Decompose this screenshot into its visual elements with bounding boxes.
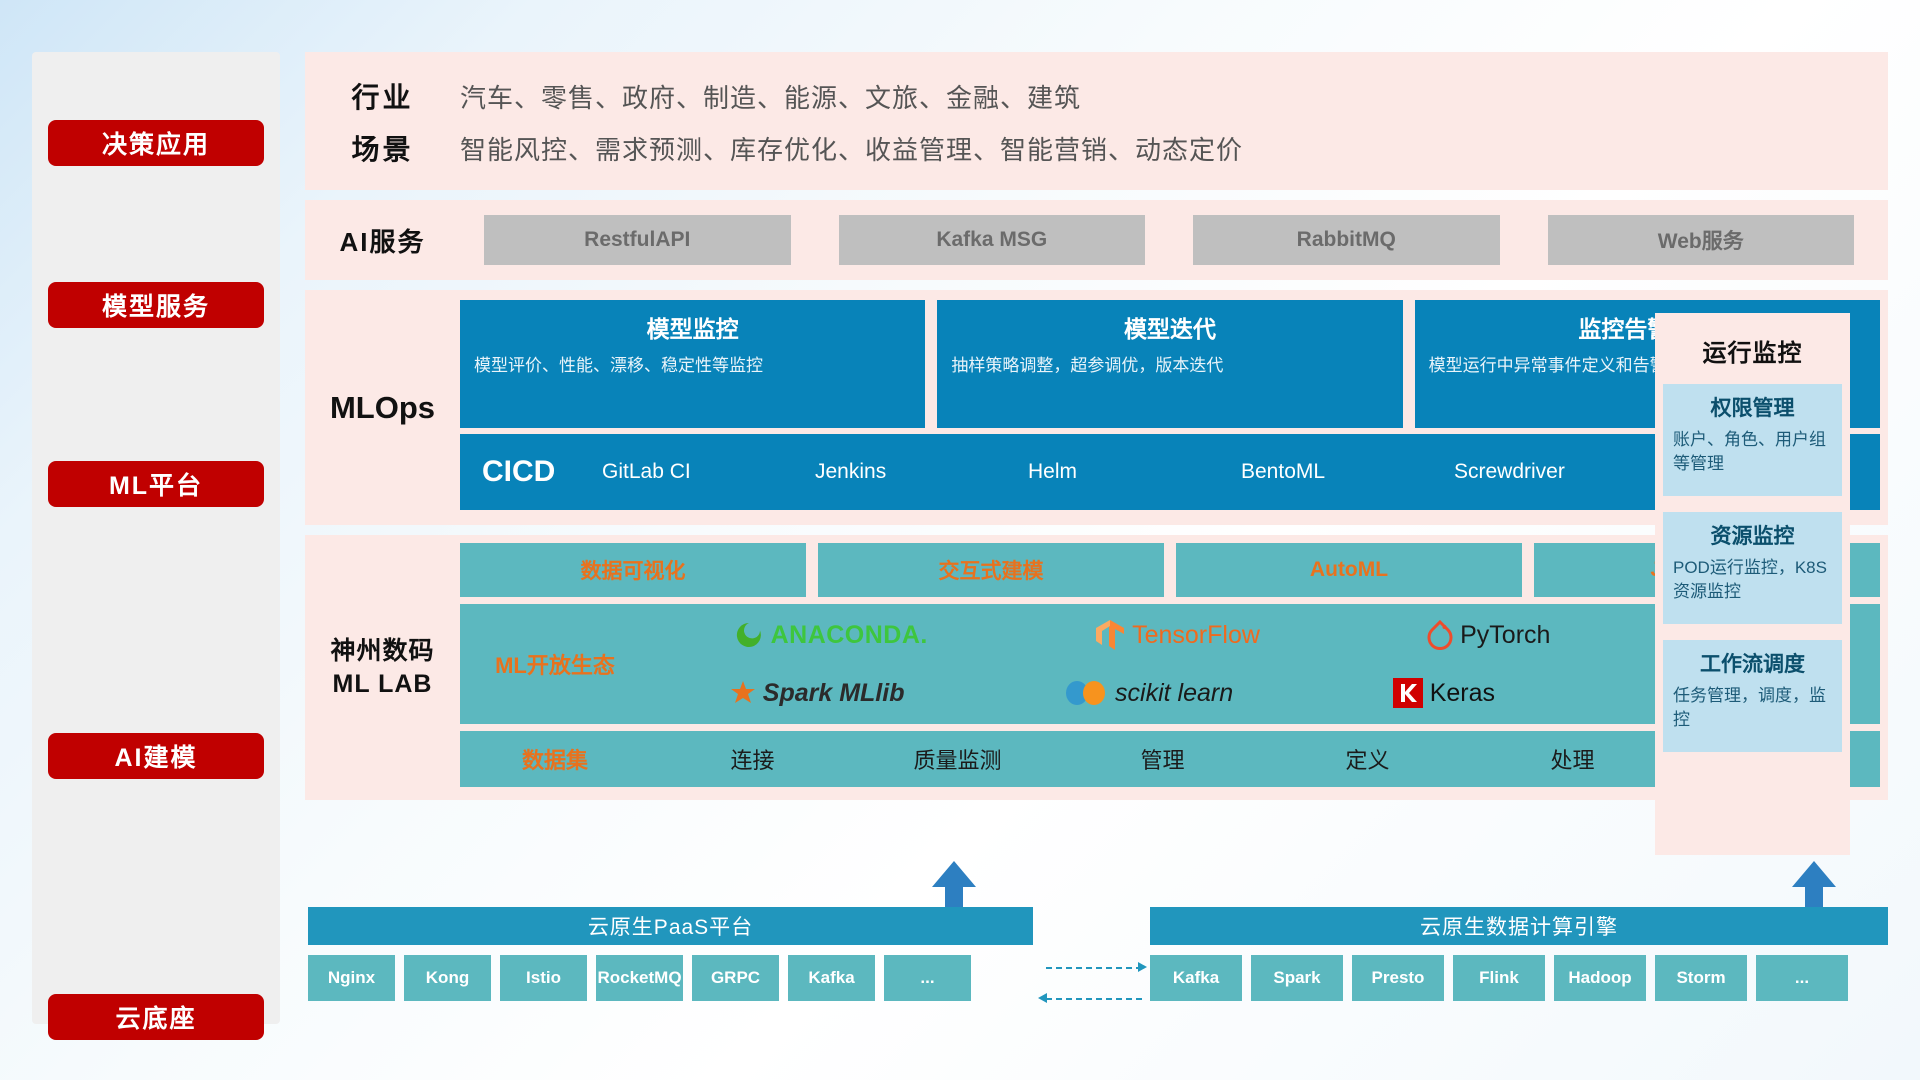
runtime-monitor-title: 运行监控 [1663, 321, 1842, 384]
layer-label-cloud-base[interactable]: 云底座 [48, 994, 264, 1040]
link-dashed-line-bottom [1046, 998, 1142, 1000]
logo-spark-mllib[interactable]: Spark MLlib [730, 679, 905, 708]
lab-tool-data-visualization[interactable]: 数据可视化 [460, 543, 806, 597]
dataset-step-define[interactable]: 定义 [1265, 743, 1470, 775]
card-title: 权限管理 [1673, 392, 1832, 422]
cicd-label: CICD [482, 455, 602, 489]
engine-chip-presto[interactable]: Presto [1352, 955, 1444, 1001]
dataset-step-quality-monitor[interactable]: 质量监测 [855, 743, 1060, 775]
card-desc: 账户、角色、用户组等管理 [1673, 428, 1832, 476]
monitor-card-resource[interactable]: 资源监控 POD运行监控，K8S资源监控 [1663, 512, 1842, 624]
cicd-tool-gitlab-ci[interactable]: GitLab CI [602, 461, 815, 483]
cicd-tool-screwdriver[interactable]: Screwdriver [1454, 461, 1667, 483]
ml-lab-label-line2: ML LAB [333, 668, 433, 701]
dataset-step-process[interactable]: 处理 [1470, 743, 1675, 775]
keras-icon [1393, 678, 1423, 708]
ml-ecosystem-label: ML开放生态 [460, 648, 650, 680]
logo-text: ANACONDA. [771, 621, 928, 650]
engine-arrow-stem [1805, 885, 1823, 907]
logo-anaconda[interactable]: ANACONDA. [734, 620, 928, 650]
runtime-monitor-column: 运行监控 权限管理 账户、角色、用户组等管理 资源监控 POD运行监控，K8S资… [1655, 313, 1850, 855]
layer-label-model-service[interactable]: 模型服务 [48, 282, 264, 328]
logo-text: PyTorch [1460, 621, 1550, 650]
card-desc: 任务管理，调度，监控 [1673, 684, 1832, 732]
mlops-layer: MLOps 模型监控 模型评价、性能、漂移、稳定性等监控 模型迭代 抽样策略调整… [305, 290, 1888, 525]
link-arrow-right-icon [1138, 962, 1147, 972]
monitor-card-permission[interactable]: 权限管理 账户、角色、用户组等管理 [1663, 384, 1842, 496]
service-chip-rabbitmq[interactable]: RabbitMQ [1193, 215, 1500, 265]
scenario-row: 场景 智能风控、需求预测、库存优化、收益管理、智能营销、动态定价 [305, 122, 1888, 174]
service-chip-restfulapi[interactable]: RestfulAPI [484, 215, 791, 265]
paas-arrow-stem [945, 885, 963, 907]
scenario-value: 智能风控、需求预测、库存优化、收益管理、智能营销、动态定价 [460, 130, 1243, 167]
anaconda-icon [734, 620, 764, 650]
paas-up-arrow-icon [932, 861, 976, 887]
layer-label-ml-platform[interactable]: ML平台 [48, 461, 264, 507]
card-desc: 抽样策略调整，超参调优，版本迭代 [951, 354, 1388, 379]
logo-text: TensorFlow [1132, 621, 1260, 650]
card-title: 工作流调度 [1673, 648, 1832, 678]
paas-chip-kafka[interactable]: Kafka [788, 955, 875, 1001]
logo-pytorch[interactable]: PyTorch [1427, 620, 1550, 650]
engine-up-arrow-icon [1792, 861, 1836, 887]
engine-chip-hadoop[interactable]: Hadoop [1554, 955, 1646, 1001]
layer-label-decision-app[interactable]: 决策应用 [48, 120, 264, 166]
cloud-base-layer: 云原生PaaS平台 云原生数据计算引擎 Nginx Kong Istio Roc… [305, 885, 1888, 1025]
layer-label-ai-modeling[interactable]: AI建模 [48, 733, 264, 779]
cicd-tool-bentoml[interactable]: BentoML [1241, 461, 1454, 483]
architecture-diagram: 决策应用 模型服务 ML平台 AI建模 云底座 行业 汽车、零售、政府、制造、能… [0, 0, 1920, 1080]
mlops-label: MLOps [305, 290, 460, 525]
engine-chip-spark[interactable]: Spark [1251, 955, 1343, 1001]
paas-chip-grpc[interactable]: GRPC [692, 955, 779, 1001]
paas-chip-nginx[interactable]: Nginx [308, 955, 395, 1001]
lab-tool-automl[interactable]: AutoML [1176, 543, 1522, 597]
logo-text: scikit learn [1115, 679, 1233, 708]
logo-keras[interactable]: Keras [1393, 678, 1495, 708]
ai-service-list: RestfulAPI Kafka MSG RabbitMQ Web服务 [460, 215, 1888, 265]
link-arrow-left-icon [1038, 993, 1047, 1003]
ai-service-label: AI服务 [305, 222, 460, 259]
card-desc: POD运行监控，K8S资源监控 [1673, 556, 1832, 604]
service-chip-web[interactable]: Web服务 [1548, 215, 1855, 265]
industry-row: 行业 汽车、零售、政府、制造、能源、文旅、金融、建筑 [305, 70, 1888, 122]
paas-chip-istio[interactable]: Istio [500, 955, 587, 1001]
pytorch-icon [1427, 620, 1453, 650]
link-dashed-line-top [1046, 967, 1142, 969]
main-stack: 行业 汽车、零售、政府、制造、能源、文旅、金融、建筑 场景 智能风控、需求预测、… [305, 52, 1888, 800]
paas-chip-more[interactable]: ... [884, 955, 971, 1001]
spark-star-icon [730, 680, 756, 706]
dataset-step-manage[interactable]: 管理 [1060, 743, 1265, 775]
engine-chip-list: Kafka Spark Presto Flink Hadoop Storm ..… [1150, 955, 1848, 1001]
engine-title-bar[interactable]: 云原生数据计算引擎 [1150, 907, 1888, 945]
ml-lab-label-line1: 神州数码 [330, 635, 434, 668]
engine-chip-kafka[interactable]: Kafka [1150, 955, 1242, 1001]
paas-chip-rocketmq[interactable]: RocketMQ [596, 955, 683, 1001]
ml-lab-layer: 神州数码 ML LAB 数据可视化 交互式建模 AutoML JupyterLa… [305, 535, 1888, 800]
service-chip-kafka-msg[interactable]: Kafka MSG [839, 215, 1146, 265]
card-title: 模型监控 [474, 310, 911, 344]
paas-title-bar[interactable]: 云原生PaaS平台 [308, 907, 1033, 945]
paas-chip-kong[interactable]: Kong [404, 955, 491, 1001]
cicd-tool-jenkins[interactable]: Jenkins [815, 461, 1028, 483]
logo-text: Keras [1430, 679, 1495, 708]
cicd-tool-helm[interactable]: Helm [1028, 461, 1241, 483]
card-title: 资源监控 [1673, 520, 1832, 550]
application-layer: 行业 汽车、零售、政府、制造、能源、文旅、金融、建筑 场景 智能风控、需求预测、… [305, 52, 1888, 190]
dataset-label: 数据集 [460, 743, 650, 775]
mlops-card-model-iteration[interactable]: 模型迭代 抽样策略调整，超参调优，版本迭代 [937, 300, 1402, 428]
ml-lab-label: 神州数码 ML LAB [305, 535, 460, 800]
paas-chip-list: Nginx Kong Istio RocketMQ GRPC Kafka ... [308, 955, 971, 1001]
tensorflow-icon [1095, 619, 1125, 651]
card-title: 模型迭代 [951, 310, 1388, 344]
lab-tool-interactive-modeling[interactable]: 交互式建模 [818, 543, 1164, 597]
logo-text: Spark MLlib [763, 679, 905, 708]
mlops-card-model-monitor[interactable]: 模型监控 模型评价、性能、漂移、稳定性等监控 [460, 300, 925, 428]
industry-label: 行业 [305, 76, 460, 116]
engine-chip-more[interactable]: ... [1756, 955, 1848, 1001]
layer-label-column: 决策应用 模型服务 ML平台 AI建模 云底座 [32, 52, 280, 1024]
industry-value: 汽车、零售、政府、制造、能源、文旅、金融、建筑 [460, 78, 1081, 115]
scikit-learn-icon [1064, 679, 1108, 707]
monitor-card-workflow[interactable]: 工作流调度 任务管理，调度，监控 [1663, 640, 1842, 752]
engine-chip-storm[interactable]: Storm [1655, 955, 1747, 1001]
ai-service-layer: AI服务 RestfulAPI Kafka MSG RabbitMQ Web服务 [305, 200, 1888, 280]
logo-scikit-learn[interactable]: scikit learn [1064, 679, 1233, 708]
engine-chip-flink[interactable]: Flink [1453, 955, 1545, 1001]
dataset-step-connect[interactable]: 连接 [650, 743, 855, 775]
scenario-label: 场景 [305, 128, 460, 168]
card-desc: 模型评价、性能、漂移、稳定性等监控 [474, 354, 911, 379]
logo-tensorflow[interactable]: TensorFlow [1095, 619, 1260, 651]
